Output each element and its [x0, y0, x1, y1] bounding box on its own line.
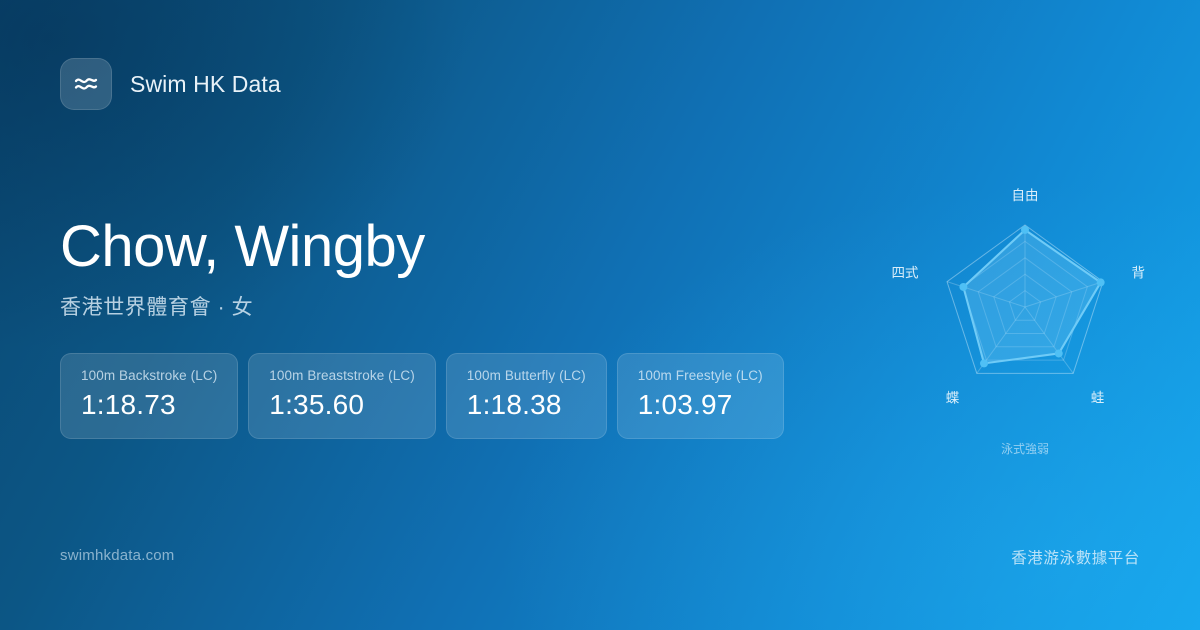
stat-card-value: 1:35.60 — [269, 389, 415, 421]
radar-data-point — [1097, 278, 1105, 286]
footer-site-url[interactable]: swimhkdata.com — [60, 547, 175, 564]
stat-card-label: 100m Freestyle (LC) — [638, 368, 763, 383]
radar-data-point — [1021, 226, 1029, 234]
radar-axis-label: 蝶 — [946, 391, 960, 407]
wave-icon — [60, 58, 112, 110]
radar-axis-label: 四式 — [892, 265, 920, 281]
stat-card[interactable]: 100m Butterfly (LC) 1:18.38 — [446, 353, 607, 439]
radar-axis-label: 背 — [1132, 265, 1146, 281]
radar-caption: 泳式強弱 — [1001, 442, 1049, 456]
stat-card-label: 100m Butterfly (LC) — [467, 368, 586, 383]
stat-card[interactable]: 100m Backstroke (LC) 1:18.73 — [60, 353, 238, 439]
stat-card-list: 100m Backstroke (LC) 1:18.73 100m Breast… — [60, 353, 784, 439]
footer-tagline: 香港游泳數據平台 — [1011, 546, 1140, 568]
stroke-strength-radar-chart: 自由背蛙蝶四式 泳式強弱 — [880, 168, 1170, 478]
radar-data-polygon — [963, 230, 1100, 363]
radar-data-point — [959, 283, 967, 291]
stat-card-value: 1:03.97 — [638, 389, 763, 421]
hero-section: Chow, Wingby 香港世界體育會 · 女 — [60, 216, 425, 321]
stat-card-label: 100m Breaststroke (LC) — [269, 368, 415, 383]
stat-card-label: 100m Backstroke (LC) — [81, 368, 217, 383]
athlete-meta: 香港世界體育會 · 女 — [60, 291, 425, 321]
page-title: Chow, Wingby — [60, 216, 425, 279]
radar-data-point — [980, 359, 988, 367]
radar-axis-label: 自由 — [1012, 188, 1039, 204]
stat-card-value: 1:18.38 — [467, 389, 586, 421]
stat-card[interactable]: 100m Freestyle (LC) 1:03.97 — [617, 353, 784, 439]
stat-card[interactable]: 100m Breaststroke (LC) 1:35.60 — [248, 353, 436, 439]
brand-name: Swim HK Data — [130, 71, 281, 98]
brand-header[interactable]: Swim HK Data — [60, 58, 281, 110]
radar-axis-label: 蛙 — [1091, 391, 1105, 407]
stat-card-value: 1:18.73 — [81, 389, 217, 421]
radar-data-point — [1055, 349, 1063, 357]
